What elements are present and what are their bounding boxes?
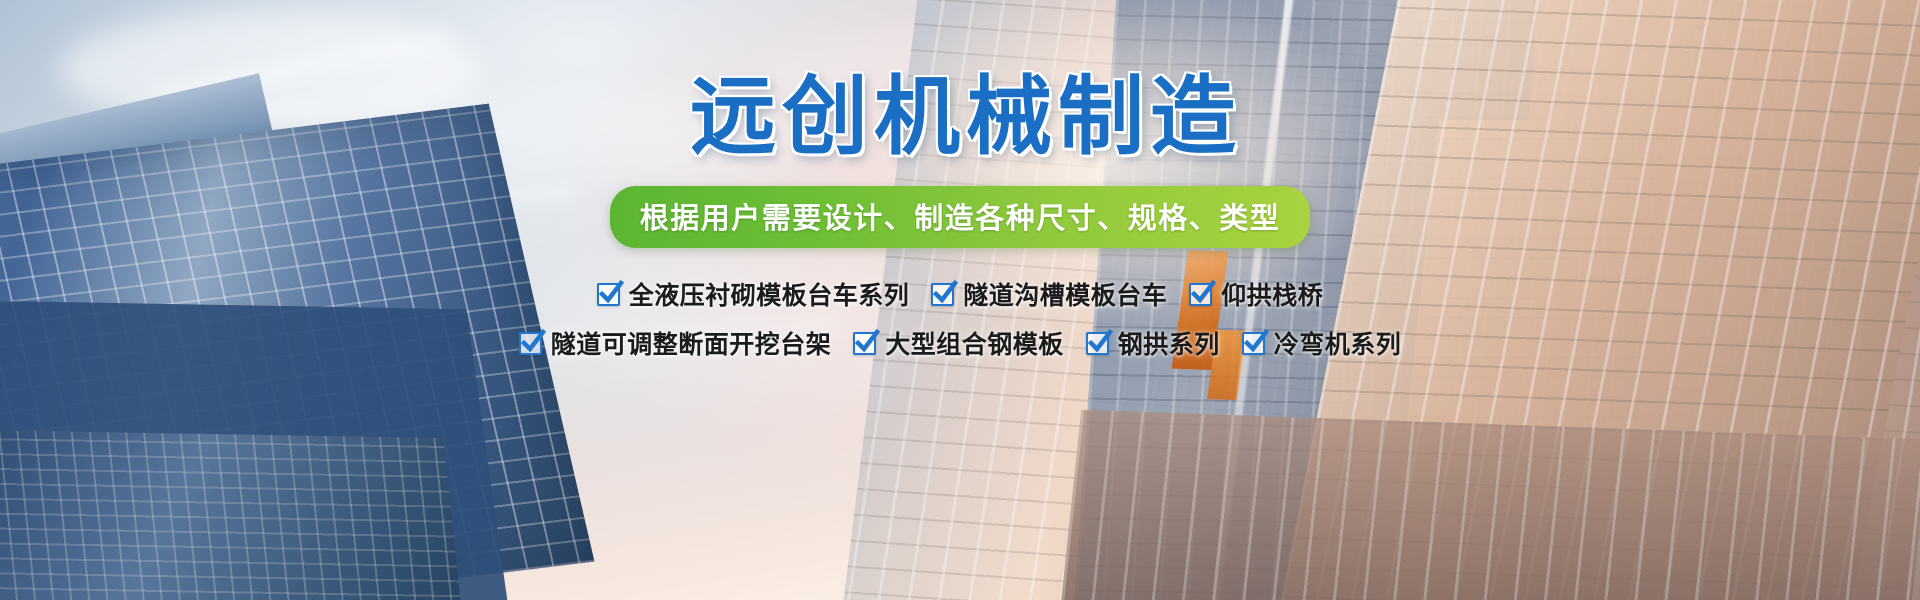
feature-item[interactable]: 隧道可调整断面开挖台架 [519, 325, 832, 361]
checkbox-checked-icon[interactable] [1189, 283, 1212, 306]
feature-label: 大型组合钢模板 [885, 325, 1064, 361]
feature-item[interactable]: 仰拱栈桥 [1189, 276, 1323, 312]
feature-row: 全液压衬砌模板台车系列 隧道沟槽模板台车 仰拱栈桥 [597, 276, 1324, 312]
feature-label: 钢拱系列 [1118, 325, 1220, 361]
checkbox-checked-icon[interactable] [931, 283, 954, 306]
subtitle-text: 根据用户需要设计、制造各种尺寸、规格、类型 [640, 201, 1281, 235]
checkbox-checked-icon[interactable] [1242, 332, 1265, 355]
feature-row: 隧道可调整断面开挖台架 大型组合钢模板 钢拱系列 [519, 325, 1402, 361]
feature-item[interactable]: 冷弯机系列 [1242, 325, 1402, 361]
feature-label: 全液压衬砌模板台车系列 [629, 276, 910, 312]
page-title: 远创机械制造 [690, 74, 1242, 160]
feature-item[interactable]: 全液压衬砌模板台车系列 [597, 276, 910, 312]
banner-content: 远创机械制造 根据用户需要设计、制造各种尺寸、规格、类型 全液压衬砌模板台车系列… [0, 0, 1920, 600]
checkbox-checked-icon[interactable] [1086, 332, 1109, 355]
feature-label: 隧道沟槽模板台车 [963, 276, 1167, 312]
checkbox-checked-icon[interactable] [597, 283, 620, 306]
feature-item[interactable]: 隧道沟槽模板台车 [931, 276, 1167, 312]
feature-item[interactable]: 大型组合钢模板 [853, 325, 1064, 361]
checkbox-checked-icon[interactable] [853, 332, 876, 355]
feature-item[interactable]: 钢拱系列 [1086, 325, 1220, 361]
feature-label: 隧道可调整断面开挖台架 [551, 325, 832, 361]
checkbox-checked-icon[interactable] [519, 332, 542, 355]
feature-list: 全液压衬砌模板台车系列 隧道沟槽模板台车 仰拱栈桥 [519, 276, 1402, 361]
feature-label: 仰拱栈桥 [1221, 276, 1323, 312]
subtitle-pill: 根据用户需要设计、制造各种尺寸、规格、类型 [610, 186, 1311, 248]
feature-label: 冷弯机系列 [1274, 325, 1402, 361]
hero-banner: 远创机械制造 根据用户需要设计、制造各种尺寸、规格、类型 全液压衬砌模板台车系列… [0, 0, 1920, 600]
